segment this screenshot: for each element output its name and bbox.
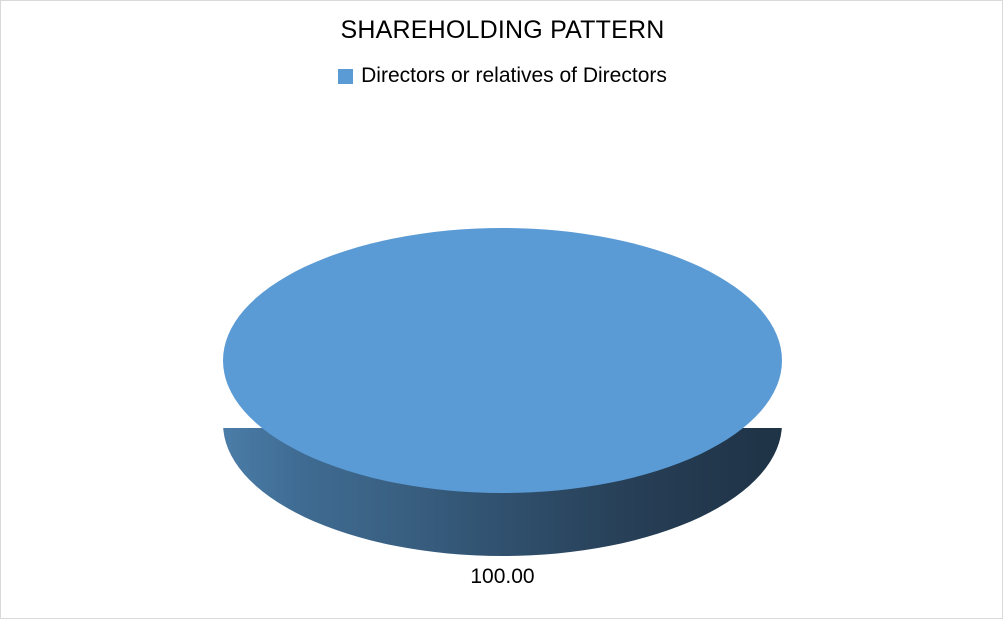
legend-item-label: Directors or relatives of Directors — [361, 65, 667, 86]
pie-slice-data-label: 100.00 — [1, 565, 1003, 589]
pie-slice-directors[interactable] — [223, 228, 782, 493]
pie-graphic — [223, 228, 782, 556]
chart-legend: Directors or relatives of Directors — [1, 65, 1003, 86]
legend-color-swatch-icon — [338, 69, 353, 84]
legend-item-directors[interactable]: Directors or relatives of Directors — [338, 65, 667, 86]
pie-chart-container: SHAREHOLDING PATTERN Directors or relati… — [0, 0, 1003, 619]
chart-title: SHAREHOLDING PATTERN — [1, 16, 1003, 45]
